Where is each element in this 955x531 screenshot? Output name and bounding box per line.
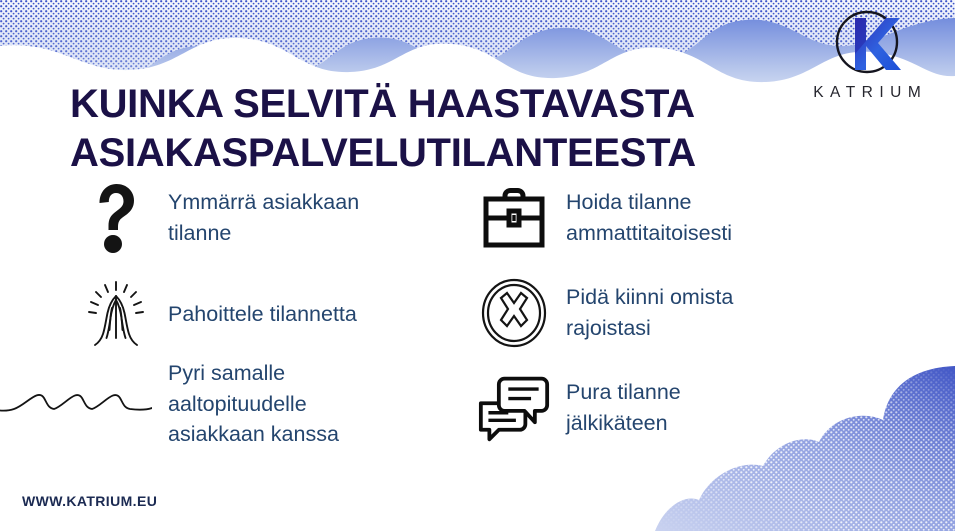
page-title-line-1: KUINKA SELVITÄ HAASTAVASTA [70,80,810,129]
list-item: Pura tilanne jälkikäteen [478,370,681,446]
brand-logo: KATRIUM [787,8,947,102]
katrium-k-logo-icon [825,8,909,82]
list-item: Pidä kiinni omista rajoistasi [478,275,733,351]
brand-wordmark: KATRIUM [787,84,947,102]
page-title: KUINKA SELVITÄ HAASTAVASTA ASIAKASPALVEL… [70,80,810,178]
briefcase-icon [478,180,550,256]
question-mark-icon [80,180,152,256]
list-item: Ymmärrä asiakkaan tilanne [80,180,359,256]
list-item: Hoida tilanne ammattitaitoisesti [478,180,732,256]
praying-hands-icon [80,276,152,352]
list-item-label: Pura tilanne jälkikäteen [566,377,681,438]
footer-website-url[interactable]: WWW.KATRIUM.EU [22,493,157,509]
list-item-label: Hoida tilanne ammattitaitoisesti [566,187,732,248]
list-item-label: Pidä kiinni omista rajoistasi [566,282,733,343]
x-circle-icon [478,275,550,351]
tips-grid: Ymmärrä asiakkaan tilanne [0,180,955,470]
infographic-canvas: KATRIUM KUINKA SELVITÄ HAASTAVASTA ASIAK… [0,0,955,531]
list-item-label: Ymmärrä asiakkaan tilanne [168,187,359,248]
list-item: Pyri samalle aaltopituudelle asiakkaan k… [0,358,339,450]
wave-line-icon [0,366,152,442]
chat-bubbles-icon [478,370,550,446]
page-title-line-2: ASIAKASPALVELUTILANTEESTA [70,129,810,178]
list-item: Pahoittele tilannetta [80,276,357,352]
list-item-label: Pahoittele tilannetta [168,299,357,330]
list-item-label: Pyri samalle aaltopituudelle asiakkaan k… [168,358,339,450]
